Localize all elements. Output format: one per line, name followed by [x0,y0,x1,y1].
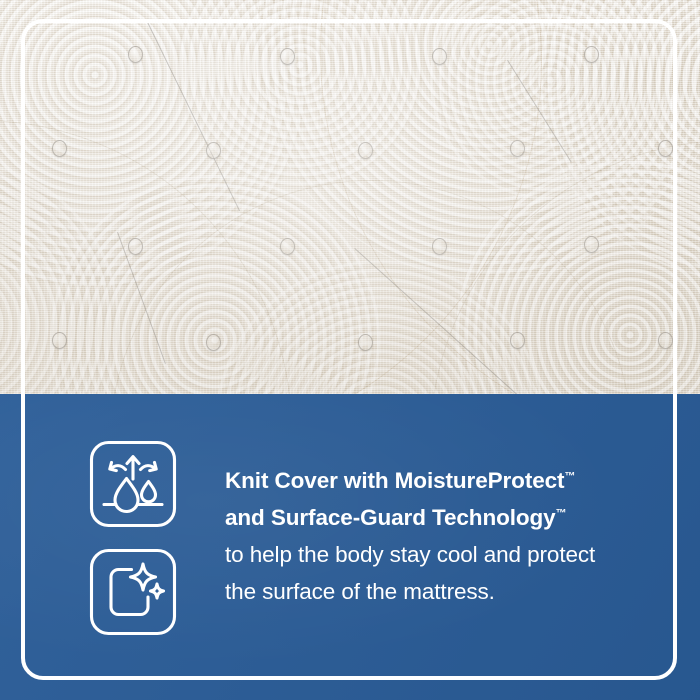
mattress-fabric-photo [0,0,700,396]
body-line-2: the surface of the mattress. [225,573,671,610]
trademark-symbol: ™ [556,508,567,520]
moisture-wicking-airflow-icon [87,438,179,530]
fabric-lighting-overlay [0,0,700,396]
headline-line-2-text: and Surface-Guard Technology [225,505,556,530]
product-feature-card: Knit Cover with MoistureProtect™ and Sur… [0,0,700,700]
headline-line-1: Knit Cover with MoistureProtect™ [225,462,671,499]
trademark-symbol: ™ [564,471,575,483]
surface-guard-sparkle-icon [87,546,179,638]
headline-line-2: and Surface-Guard Technology™ [225,499,671,536]
headline-line-1-text: Knit Cover with MoistureProtect [225,468,564,493]
feature-icon-column [87,438,183,654]
feature-copy-block: Knit Cover with MoistureProtect™ and Sur… [225,462,671,610]
body-line-1: to help the body stay cool and protect [225,536,671,573]
